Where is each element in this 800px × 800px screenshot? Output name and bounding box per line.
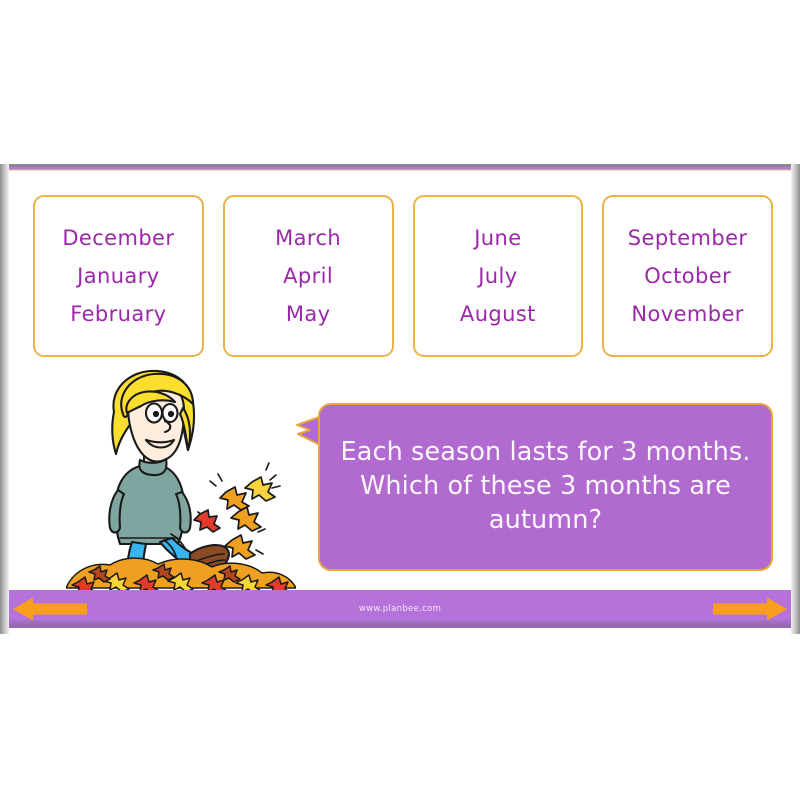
month-card-spring[interactable]: March April May — [223, 195, 394, 357]
slide-footer-bar: www.planbee.com — [9, 590, 791, 628]
month-label: April — [283, 266, 333, 287]
month-label: August — [460, 304, 536, 325]
question-text: Each season lasts for 3 months. Which of… — [320, 436, 771, 538]
month-card-autumn[interactable]: September October November — [602, 195, 773, 357]
month-label: July — [478, 266, 517, 287]
footer-shade — [9, 620, 791, 628]
slide-top-strip — [0, 164, 800, 171]
month-card-winter[interactable]: December January February — [33, 195, 204, 357]
presentation-slide: December January February March April Ma… — [0, 164, 800, 634]
month-groups-row: December January February March April Ma… — [33, 195, 773, 357]
month-label: October — [644, 266, 731, 287]
month-label: May — [286, 304, 331, 325]
month-label: February — [70, 304, 166, 325]
slide-left-edge-shadow — [0, 164, 9, 634]
month-label: March — [275, 228, 341, 249]
previous-slide-arrow-icon[interactable] — [11, 596, 89, 623]
next-slide-arrow-icon[interactable] — [711, 596, 789, 623]
slide-right-edge-shadow — [791, 164, 800, 634]
autumn-girl-illustration — [66, 364, 296, 591]
month-label: November — [631, 304, 743, 325]
question-speech-bubble: Each season lasts for 3 months. Which of… — [318, 403, 773, 571]
planbee-url-label: www.planbee.com — [359, 604, 441, 614]
month-label: January — [77, 266, 159, 287]
month-label: June — [474, 228, 521, 249]
month-card-summer[interactable]: June July August — [413, 195, 584, 357]
month-label: September — [628, 228, 748, 249]
screenshot-canvas: December January February March April Ma… — [0, 0, 800, 800]
month-label: December — [62, 228, 174, 249]
